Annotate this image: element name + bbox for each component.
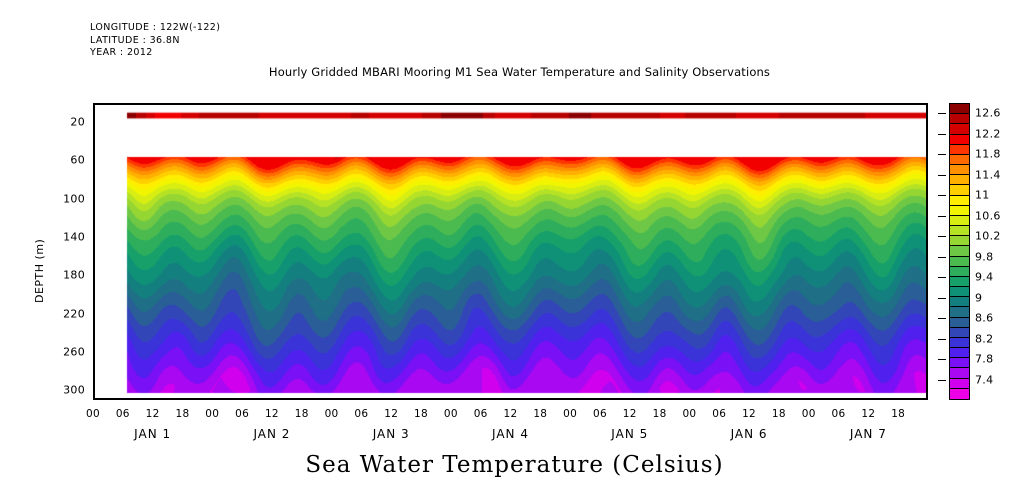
x-axis-minor-tick bbox=[612, 103, 613, 105]
x-axis-minor-tick bbox=[642, 103, 643, 105]
x-axis-minor-tick bbox=[234, 103, 235, 105]
colorbar-tick bbox=[938, 380, 946, 381]
x-axis-hour-label: 12 bbox=[146, 408, 160, 420]
x-axis-major-tick bbox=[483, 398, 484, 400]
colorbar-band bbox=[950, 297, 969, 307]
x-axis-minor-tick bbox=[403, 398, 404, 400]
x-axis-minor-tick bbox=[771, 398, 772, 400]
x-axis-minor-tick bbox=[652, 398, 653, 400]
x-axis-minor-tick bbox=[831, 103, 832, 105]
x-axis-major-tick bbox=[304, 103, 305, 105]
x-axis-minor-tick bbox=[761, 398, 762, 400]
colorbar-tick bbox=[938, 298, 946, 299]
y-axis-tick bbox=[926, 316, 928, 317]
y-axis-minor-tick bbox=[926, 143, 928, 144]
x-axis-minor-tick bbox=[701, 398, 702, 400]
y-axis-tick bbox=[926, 354, 928, 355]
x-axis-minor-tick bbox=[284, 103, 285, 105]
x-axis-minor-tick bbox=[493, 398, 494, 400]
x-axis-minor-tick bbox=[413, 398, 414, 400]
colorbar-band bbox=[950, 358, 969, 368]
colorbar-tick bbox=[938, 154, 946, 155]
x-axis-minor-tick bbox=[194, 103, 195, 105]
x-axis-minor-tick bbox=[622, 398, 623, 400]
colorbar-tick-label: 10.2 bbox=[975, 230, 1001, 243]
x-axis-minor-tick bbox=[592, 103, 593, 105]
x-axis-major-tick bbox=[214, 103, 215, 105]
x-axis-major-tick bbox=[662, 103, 663, 105]
colorbar-tick bbox=[938, 216, 946, 217]
colorbar-band bbox=[950, 257, 969, 267]
colorbar-band bbox=[950, 307, 969, 317]
year-label: YEAR : 2012 bbox=[90, 47, 153, 58]
x-axis-minor-tick bbox=[741, 398, 742, 400]
colorbar-tick bbox=[938, 318, 946, 319]
x-axis-minor-tick bbox=[920, 398, 921, 400]
x-axis-major-tick bbox=[184, 103, 185, 105]
colorbar-band bbox=[950, 196, 969, 206]
colorbar-band bbox=[950, 216, 969, 226]
colorbar-band bbox=[950, 338, 969, 348]
colorbar-band bbox=[950, 104, 969, 114]
x-axis-major-tick bbox=[334, 103, 335, 105]
x-axis-minor-tick bbox=[741, 103, 742, 105]
x-axis-major-tick bbox=[155, 103, 156, 105]
x-axis-minor-tick bbox=[791, 398, 792, 400]
x-axis-minor-tick bbox=[503, 398, 504, 400]
colorbar-tick bbox=[938, 257, 946, 258]
x-axis-minor-tick bbox=[681, 103, 682, 105]
colorbar-band bbox=[950, 185, 969, 195]
x-axis-minor-tick bbox=[224, 103, 225, 105]
colorbar-tick-label: 9.4 bbox=[975, 271, 993, 284]
colorbar-band bbox=[950, 114, 969, 124]
x-axis-minor-tick bbox=[224, 398, 225, 400]
x-axis-minor-tick bbox=[254, 103, 255, 105]
x-axis-major-tick bbox=[900, 103, 901, 105]
x-axis-major-tick bbox=[691, 103, 692, 105]
colorbar-tick-label: 12.6 bbox=[975, 107, 1001, 120]
colorbar bbox=[949, 103, 970, 400]
x-axis-minor-tick bbox=[860, 103, 861, 105]
colorbar-tick-label: 9.8 bbox=[975, 250, 993, 263]
x-axis-minor-tick bbox=[175, 103, 176, 105]
x-axis-minor-tick bbox=[443, 103, 444, 105]
x-axis-major-tick bbox=[483, 103, 484, 105]
x-axis-major-tick bbox=[244, 103, 245, 105]
colorbar-band bbox=[950, 226, 969, 236]
x-axis-minor-tick bbox=[254, 398, 255, 400]
x-axis-minor-tick bbox=[204, 398, 205, 400]
x-axis-minor-tick bbox=[314, 103, 315, 105]
station-metadata: LONGITUDE : 122W(-122) LATITUDE : 36.8N … bbox=[90, 22, 220, 60]
x-axis-hour-label: 12 bbox=[504, 408, 518, 420]
x-axis-major-tick bbox=[721, 398, 722, 400]
x-axis-minor-tick bbox=[145, 398, 146, 400]
x-axis-minor-tick bbox=[612, 398, 613, 400]
x-axis-major-tick bbox=[632, 398, 633, 400]
y-axis-minor-tick bbox=[926, 182, 928, 183]
x-axis-minor-tick bbox=[711, 398, 712, 400]
x-axis-hour-label: 00 bbox=[563, 408, 577, 420]
x-axis-major-tick bbox=[870, 103, 871, 105]
x-axis-day-label: JAN 6 bbox=[731, 427, 768, 441]
x-axis-minor-tick bbox=[294, 103, 295, 105]
colorbar-band bbox=[950, 155, 969, 165]
x-axis-minor-tick bbox=[353, 103, 354, 105]
page-title: Hourly Gridded MBARI Mooring M1 Sea Wate… bbox=[0, 65, 1009, 79]
colorbar-tick-label: 12.2 bbox=[975, 127, 1001, 140]
x-axis-minor-tick bbox=[731, 103, 732, 105]
x-axis-hour-label: 12 bbox=[861, 408, 875, 420]
colorbar-band bbox=[950, 246, 969, 256]
colorbar-tick-label: 10.6 bbox=[975, 209, 1001, 222]
x-axis-major-tick bbox=[393, 398, 394, 400]
y-axis-minor-tick bbox=[93, 258, 95, 259]
x-axis-major-tick bbox=[602, 398, 603, 400]
colorbar-band bbox=[950, 236, 969, 246]
x-axis-minor-tick bbox=[165, 103, 166, 105]
x-axis-hour-label: 18 bbox=[772, 408, 786, 420]
x-axis-minor-tick bbox=[264, 398, 265, 400]
x-axis-hour-label: 12 bbox=[742, 408, 756, 420]
x-axis-minor-tick bbox=[383, 398, 384, 400]
x-axis-hour-label: 12 bbox=[623, 408, 637, 420]
x-axis-minor-tick bbox=[711, 103, 712, 105]
x-axis-day-label: JAN 4 bbox=[492, 427, 529, 441]
y-axis-tick bbox=[93, 354, 95, 355]
colorbar-band bbox=[950, 124, 969, 134]
y-axis-tick bbox=[926, 124, 928, 125]
colorbar-band bbox=[950, 267, 969, 277]
x-axis-minor-tick bbox=[582, 398, 583, 400]
x-axis-hour-label: 06 bbox=[354, 408, 368, 420]
x-axis-minor-tick bbox=[821, 103, 822, 105]
y-axis-title: DEPTH (m) bbox=[33, 239, 46, 303]
y-axis-label: 100 bbox=[37, 192, 85, 205]
colorbar-tick-label: 11.8 bbox=[975, 148, 1001, 161]
x-axis-minor-tick bbox=[165, 398, 166, 400]
x-axis-major-tick bbox=[304, 398, 305, 400]
x-axis-minor-tick bbox=[532, 103, 533, 105]
x-axis-major-tick bbox=[155, 398, 156, 400]
x-axis-major-tick bbox=[453, 103, 454, 105]
x-axis-major-tick bbox=[662, 398, 663, 400]
x-axis-major-tick bbox=[781, 103, 782, 105]
x-axis-major-tick bbox=[95, 103, 96, 105]
y-axis-minor-tick bbox=[926, 335, 928, 336]
x-axis-minor-tick bbox=[473, 103, 474, 105]
colorbar-tick bbox=[938, 339, 946, 340]
y-axis-minor-tick bbox=[93, 297, 95, 298]
colorbar-band bbox=[950, 145, 969, 155]
x-axis-minor-tick bbox=[403, 103, 404, 105]
y-axis-minor-tick bbox=[93, 220, 95, 221]
x-axis-major-tick bbox=[691, 398, 692, 400]
x-axis-hour-label: 06 bbox=[235, 408, 249, 420]
x-axis-hour-label: 00 bbox=[205, 408, 219, 420]
x-axis-major-tick bbox=[542, 398, 543, 400]
x-axis-minor-tick bbox=[353, 398, 354, 400]
x-axis-minor-tick bbox=[314, 398, 315, 400]
x-axis-major-tick bbox=[274, 398, 275, 400]
x-axis-minor-tick bbox=[463, 398, 464, 400]
x-axis-minor-tick bbox=[115, 398, 116, 400]
x-axis-hour-label: 18 bbox=[414, 408, 428, 420]
x-axis-minor-tick bbox=[344, 103, 345, 105]
x-axis-minor-tick bbox=[383, 103, 384, 105]
x-axis-minor-tick bbox=[562, 398, 563, 400]
x-axis-minor-tick bbox=[194, 398, 195, 400]
x-axis-minor-tick bbox=[880, 398, 881, 400]
x-axis-minor-tick bbox=[920, 103, 921, 105]
x-axis-major-tick bbox=[542, 103, 543, 105]
x-axis-minor-tick bbox=[105, 398, 106, 400]
x-axis-minor-tick bbox=[324, 103, 325, 105]
x-axis-major-tick bbox=[751, 398, 752, 400]
x-axis-minor-tick bbox=[135, 398, 136, 400]
colorbar-band bbox=[950, 328, 969, 338]
colorbar-band bbox=[950, 135, 969, 145]
x-axis-major-tick bbox=[423, 398, 424, 400]
x-axis-minor-tick bbox=[463, 103, 464, 105]
y-axis-minor-tick bbox=[93, 182, 95, 183]
x-axis-minor-tick bbox=[493, 103, 494, 105]
x-axis-major-tick bbox=[125, 398, 126, 400]
x-axis-major-tick bbox=[572, 103, 573, 105]
y-axis-tick bbox=[926, 239, 928, 240]
x-axis-minor-tick bbox=[433, 103, 434, 105]
x-axis-major-tick bbox=[781, 398, 782, 400]
x-axis-major-tick bbox=[721, 103, 722, 105]
x-axis-hour-label: 00 bbox=[802, 408, 816, 420]
x-axis-minor-tick bbox=[701, 103, 702, 105]
colorbar-band bbox=[950, 368, 969, 378]
y-axis-minor-tick bbox=[93, 335, 95, 336]
y-axis-label: 260 bbox=[37, 346, 85, 359]
x-axis-minor-tick bbox=[324, 398, 325, 400]
y-axis-tick bbox=[93, 316, 95, 317]
x-axis-major-tick bbox=[751, 103, 752, 105]
x-axis-minor-tick bbox=[681, 398, 682, 400]
x-axis-major-tick bbox=[811, 398, 812, 400]
x-axis-minor-tick bbox=[522, 103, 523, 105]
x-axis-hour-label: 06 bbox=[474, 408, 488, 420]
x-axis-major-tick bbox=[363, 398, 364, 400]
colorbar-tick-label: 7.8 bbox=[975, 353, 993, 366]
x-axis-hour-label: 18 bbox=[891, 408, 905, 420]
x-axis-minor-tick bbox=[910, 398, 911, 400]
colorbar-tick bbox=[938, 134, 946, 135]
x-axis-minor-tick bbox=[532, 398, 533, 400]
temperature-contour-field bbox=[95, 105, 928, 400]
y-axis-minor-tick bbox=[926, 258, 928, 259]
x-axis-minor-tick bbox=[443, 398, 444, 400]
x-axis-day-label: JAN 3 bbox=[373, 427, 410, 441]
x-axis-minor-tick bbox=[264, 103, 265, 105]
colorbar-tick-label: 7.4 bbox=[975, 373, 993, 386]
colorbar-tick-label: 11 bbox=[975, 189, 990, 202]
x-axis-day-label: JAN 1 bbox=[134, 427, 171, 441]
x-axis-minor-tick bbox=[880, 103, 881, 105]
y-axis-tick bbox=[926, 201, 928, 202]
x-axis-major-tick bbox=[274, 103, 275, 105]
x-axis-minor-tick bbox=[831, 398, 832, 400]
latitude-label: LATITUDE : 36.8N bbox=[90, 35, 180, 46]
x-axis-major-tick bbox=[841, 398, 842, 400]
y-axis-tick bbox=[93, 124, 95, 125]
colorbar-tick bbox=[938, 277, 946, 278]
x-axis-minor-tick bbox=[175, 398, 176, 400]
x-axis-major-tick bbox=[334, 398, 335, 400]
x-axis-minor-tick bbox=[503, 103, 504, 105]
x-axis-hour-label: 18 bbox=[533, 408, 547, 420]
colorbar-band bbox=[950, 318, 969, 328]
x-axis-major-tick bbox=[423, 103, 424, 105]
x-axis-minor-tick bbox=[761, 103, 762, 105]
colorbar-tick-label: 8.6 bbox=[975, 312, 993, 325]
x-axis-minor-tick bbox=[105, 103, 106, 105]
colorbar-tick bbox=[938, 236, 946, 237]
x-axis-hour-label: 12 bbox=[265, 408, 279, 420]
x-axis-minor-tick bbox=[135, 103, 136, 105]
x-axis-major-tick bbox=[363, 103, 364, 105]
x-axis-minor-tick bbox=[672, 398, 673, 400]
colorbar-tick bbox=[938, 359, 946, 360]
colorbar-tick bbox=[938, 175, 946, 176]
x-axis-minor-tick bbox=[592, 398, 593, 400]
y-axis-tick bbox=[926, 162, 928, 163]
x-axis-major-tick bbox=[214, 398, 215, 400]
colorbar-tick bbox=[938, 113, 946, 114]
x-axis-minor-tick bbox=[473, 398, 474, 400]
x-axis-minor-tick bbox=[890, 103, 891, 105]
x-axis-minor-tick bbox=[652, 103, 653, 105]
y-axis-minor-tick bbox=[926, 297, 928, 298]
x-axis-minor-tick bbox=[344, 398, 345, 400]
x-axis-major-tick bbox=[125, 103, 126, 105]
x-axis-minor-tick bbox=[860, 398, 861, 400]
x-axis-minor-tick bbox=[284, 398, 285, 400]
colorbar-band bbox=[950, 277, 969, 287]
x-axis-hour-label: 06 bbox=[116, 408, 130, 420]
x-axis-minor-tick bbox=[850, 398, 851, 400]
x-axis-minor-tick bbox=[552, 103, 553, 105]
x-axis-minor-tick bbox=[204, 103, 205, 105]
x-axis-hour-label: 00 bbox=[86, 408, 100, 420]
x-axis-hour-label: 06 bbox=[593, 408, 607, 420]
x-axis-minor-tick bbox=[890, 398, 891, 400]
y-axis-minor-tick bbox=[926, 220, 928, 221]
x-axis-day-label: JAN 2 bbox=[253, 427, 290, 441]
x-axis-minor-tick bbox=[791, 103, 792, 105]
x-axis-minor-tick bbox=[552, 398, 553, 400]
colorbar-band bbox=[950, 379, 969, 389]
colorbar-tick-label: 8.2 bbox=[975, 332, 993, 345]
y-axis-tick bbox=[93, 162, 95, 163]
colorbar-tick bbox=[938, 195, 946, 196]
colorbar-band bbox=[950, 389, 969, 399]
x-axis-minor-tick bbox=[801, 398, 802, 400]
x-axis-day-label: JAN 7 bbox=[850, 427, 887, 441]
x-axis-minor-tick bbox=[672, 103, 673, 105]
colorbar-tick-label: 9 bbox=[975, 291, 982, 304]
y-axis-label: 220 bbox=[37, 307, 85, 320]
x-axis-minor-tick bbox=[115, 103, 116, 105]
x-axis-major-tick bbox=[841, 103, 842, 105]
x-axis-minor-tick bbox=[850, 103, 851, 105]
x-axis-minor-tick bbox=[622, 103, 623, 105]
contour-plot bbox=[93, 103, 928, 400]
x-axis-major-tick bbox=[95, 398, 96, 400]
x-axis-major-tick bbox=[572, 398, 573, 400]
x-axis-minor-tick bbox=[801, 103, 802, 105]
x-axis-minor-tick bbox=[771, 103, 772, 105]
x-axis-minor-tick bbox=[910, 103, 911, 105]
x-axis-minor-tick bbox=[582, 103, 583, 105]
x-axis-minor-tick bbox=[373, 398, 374, 400]
y-axis-tick bbox=[93, 239, 95, 240]
y-axis-tick bbox=[93, 201, 95, 202]
x-axis-minor-tick bbox=[522, 398, 523, 400]
x-axis-hour-label: 00 bbox=[444, 408, 458, 420]
x-axis-minor-tick bbox=[642, 398, 643, 400]
x-axis-hour-label: 12 bbox=[384, 408, 398, 420]
x-axis-minor-tick bbox=[821, 398, 822, 400]
colorbar-tick-label: 11.4 bbox=[975, 168, 1001, 181]
x-axis-major-tick bbox=[870, 398, 871, 400]
longitude-label: LONGITUDE : 122W(-122) bbox=[90, 22, 220, 33]
x-axis-major-tick bbox=[184, 398, 185, 400]
x-axis-minor-tick bbox=[433, 398, 434, 400]
x-axis-major-tick bbox=[453, 398, 454, 400]
x-axis-major-tick bbox=[632, 103, 633, 105]
x-axis-major-tick bbox=[811, 103, 812, 105]
colorbar-band bbox=[950, 175, 969, 185]
x-axis-minor-tick bbox=[373, 103, 374, 105]
x-axis-minor-tick bbox=[731, 398, 732, 400]
y-axis-tick bbox=[93, 277, 95, 278]
x-axis-day-label: JAN 5 bbox=[611, 427, 648, 441]
x-axis-hour-label: 06 bbox=[712, 408, 726, 420]
colorbar-band bbox=[950, 206, 969, 216]
x-axis-minor-tick bbox=[294, 398, 295, 400]
plot-caption: Sea Water Temperature (Celsius) bbox=[0, 452, 1009, 478]
x-axis-major-tick bbox=[513, 398, 514, 400]
colorbar-band bbox=[950, 165, 969, 175]
y-axis-tick bbox=[93, 392, 95, 393]
x-axis-minor-tick bbox=[145, 103, 146, 105]
y-axis-minor-tick bbox=[93, 143, 95, 144]
x-axis-minor-tick bbox=[562, 103, 563, 105]
x-axis-minor-tick bbox=[413, 103, 414, 105]
y-axis-minor-tick bbox=[926, 373, 928, 374]
y-axis-minor-tick bbox=[93, 373, 95, 374]
x-axis-major-tick bbox=[602, 103, 603, 105]
x-axis-hour-label: 00 bbox=[325, 408, 339, 420]
x-axis-major-tick bbox=[244, 398, 245, 400]
x-axis-minor-tick bbox=[234, 398, 235, 400]
x-axis-hour-label: 18 bbox=[295, 408, 309, 420]
y-axis-label: 300 bbox=[37, 384, 85, 397]
x-axis-major-tick bbox=[393, 103, 394, 105]
colorbar-band bbox=[950, 287, 969, 297]
y-axis-label: 20 bbox=[37, 116, 85, 129]
x-axis-hour-label: 18 bbox=[175, 408, 189, 420]
x-axis-hour-label: 06 bbox=[832, 408, 846, 420]
x-axis-hour-label: 18 bbox=[653, 408, 667, 420]
y-axis-tick bbox=[926, 277, 928, 278]
